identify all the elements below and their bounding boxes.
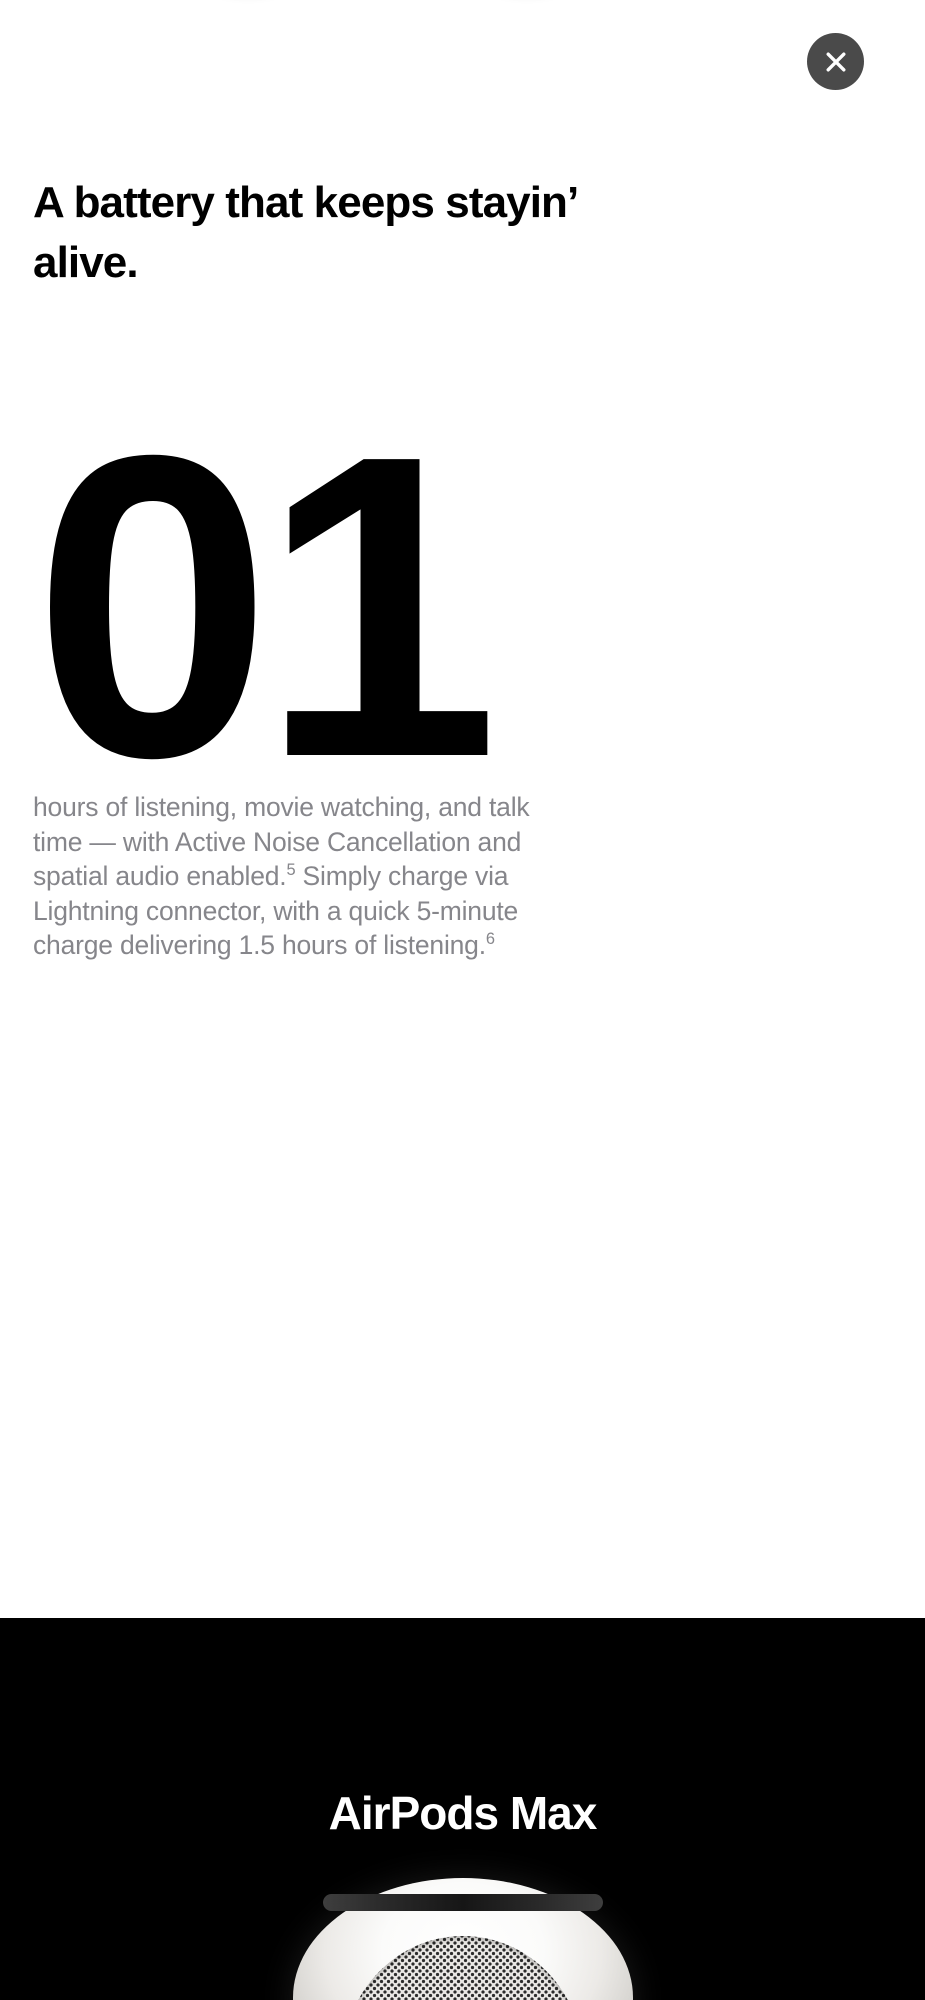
stat-number: 01 (33, 392, 487, 822)
page-title: A battery that keeps stayin’ alive. (33, 173, 653, 293)
footnote-ref-6: 6 (486, 930, 495, 948)
product-headband-graphic (323, 1894, 603, 1911)
close-button[interactable] (807, 33, 864, 90)
page-root: A battery that keeps stayin’ alive. 01 h… (0, 0, 925, 2000)
product-hero-section: AirPods Max (0, 1618, 925, 2000)
airpods-earcups-image (0, 0, 925, 40)
airpods-max-product-image (293, 1850, 633, 2000)
product-name-heading: AirPods Max (0, 1785, 925, 1841)
battery-feature-section: A battery that keeps stayin’ alive. 01 h… (0, 0, 925, 1618)
close-icon (823, 49, 849, 75)
stat-description: hours of listening, movie watching, and … (33, 790, 568, 963)
